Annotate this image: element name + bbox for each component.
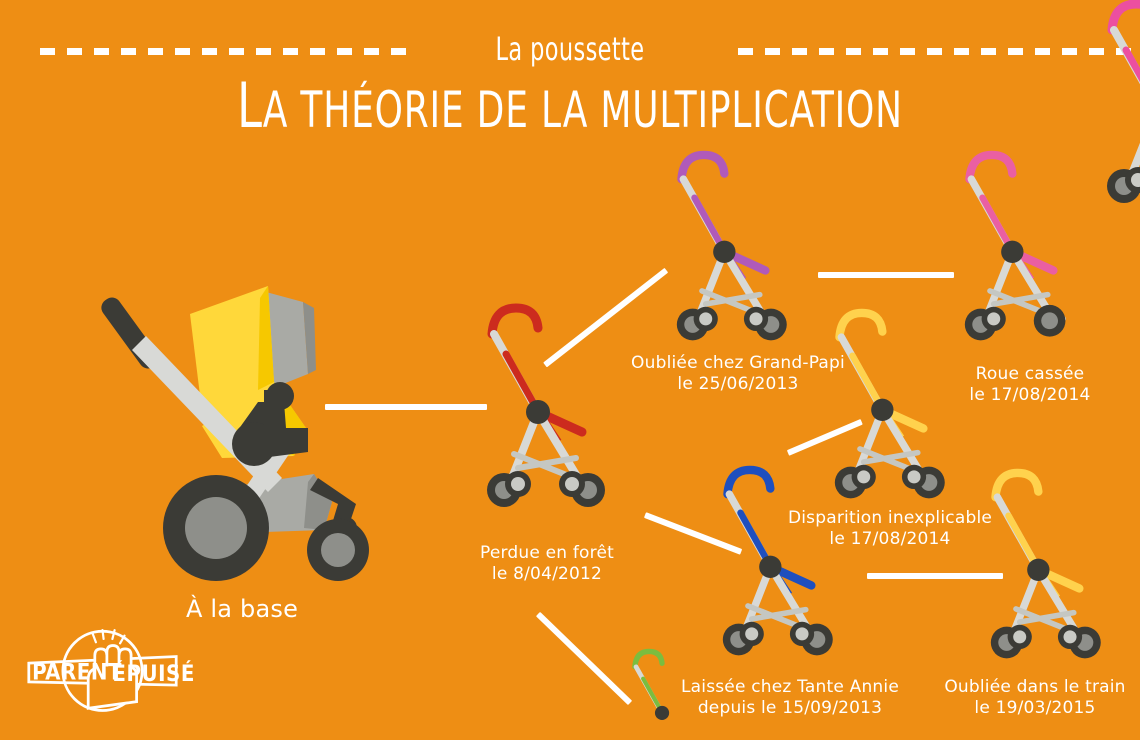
dash-segment [40,48,55,55]
label-disparition-inexplicable: Disparition inexplicable le 17/08/2014 [745,508,1035,550]
stroller-illustration-yellow-right [978,458,1108,663]
label-a-la-base-line1: À la base [142,595,342,623]
dash-segment [1035,48,1050,55]
label-laissee-chez-tante-annie-line1: Laissée chez Tante Annie [645,677,935,698]
brand-logo[interactable]: PARENT ÉPUISÉ [20,620,185,725]
label-perdue-en-foret: Perdue en forêt le 8/04/2012 [447,543,647,585]
stroller-illustration-pink [952,140,1082,345]
label-oubliee-dans-le-train-line1: Oubliée dans le train [925,677,1140,698]
connector-purple-to-pink [818,272,954,278]
label-perdue-en-foret-line2: le 8/04/2012 [447,564,647,585]
logo-word-left: PARENT [32,661,122,686]
stroller-illustration-purple [664,140,794,345]
label-disparition-inexplicable-line2: le 17/08/2014 [745,529,1035,550]
dash-segment [94,48,109,55]
label-disparition-inexplicable-line1: Disparition inexplicable [745,508,1035,529]
stroller-illustration-partial-top-right [1098,0,1140,208]
label-oubliee-chez-grand-papi: Oubliée chez Grand-Papi le 25/06/2013 [593,353,883,395]
label-roue-cassee: Roue cassée le 17/08/2014 [930,364,1130,406]
label-roue-cassee-line2: le 17/08/2014 [930,385,1130,406]
page-kicker: La poussette [125,30,1014,68]
stroller-illustration-red [478,292,608,512]
stroller-illustration-base [118,278,368,578]
label-a-la-base: À la base [142,595,342,623]
dash-segment [67,48,82,55]
label-oubliee-dans-le-train-line2: le 19/03/2015 [925,698,1140,719]
infographic-canvas: La poussette LA THÉORIE DE LA MULTIPLICA… [0,0,1140,740]
page-title-rest: A THÉORIE DE LA MULTIPLICATION [263,81,903,139]
label-laissee-chez-tante-annie: Laissée chez Tante Annie depuis le 15/09… [645,677,935,719]
label-laissee-chez-tante-annie-line2: depuis le 15/09/2013 [645,698,935,719]
label-oubliee-chez-grand-papi-line2: le 25/06/2013 [593,374,883,395]
page-title: LA THÉORIE DE LA MULTIPLICATION [114,78,1026,138]
label-perdue-en-foret-line1: Perdue en forêt [447,543,647,564]
label-oubliee-chez-grand-papi-line1: Oubliée chez Grand-Papi [593,353,883,374]
stroller-illustration-blue [710,455,840,660]
dash-segment [1062,48,1077,55]
label-roue-cassee-line1: Roue cassée [930,364,1130,385]
label-oubliee-dans-le-train: Oubliée dans le train le 19/03/2015 [925,677,1140,719]
logo-word-right: ÉPUISÉ [112,661,195,687]
page-title-initial: L [237,69,263,142]
